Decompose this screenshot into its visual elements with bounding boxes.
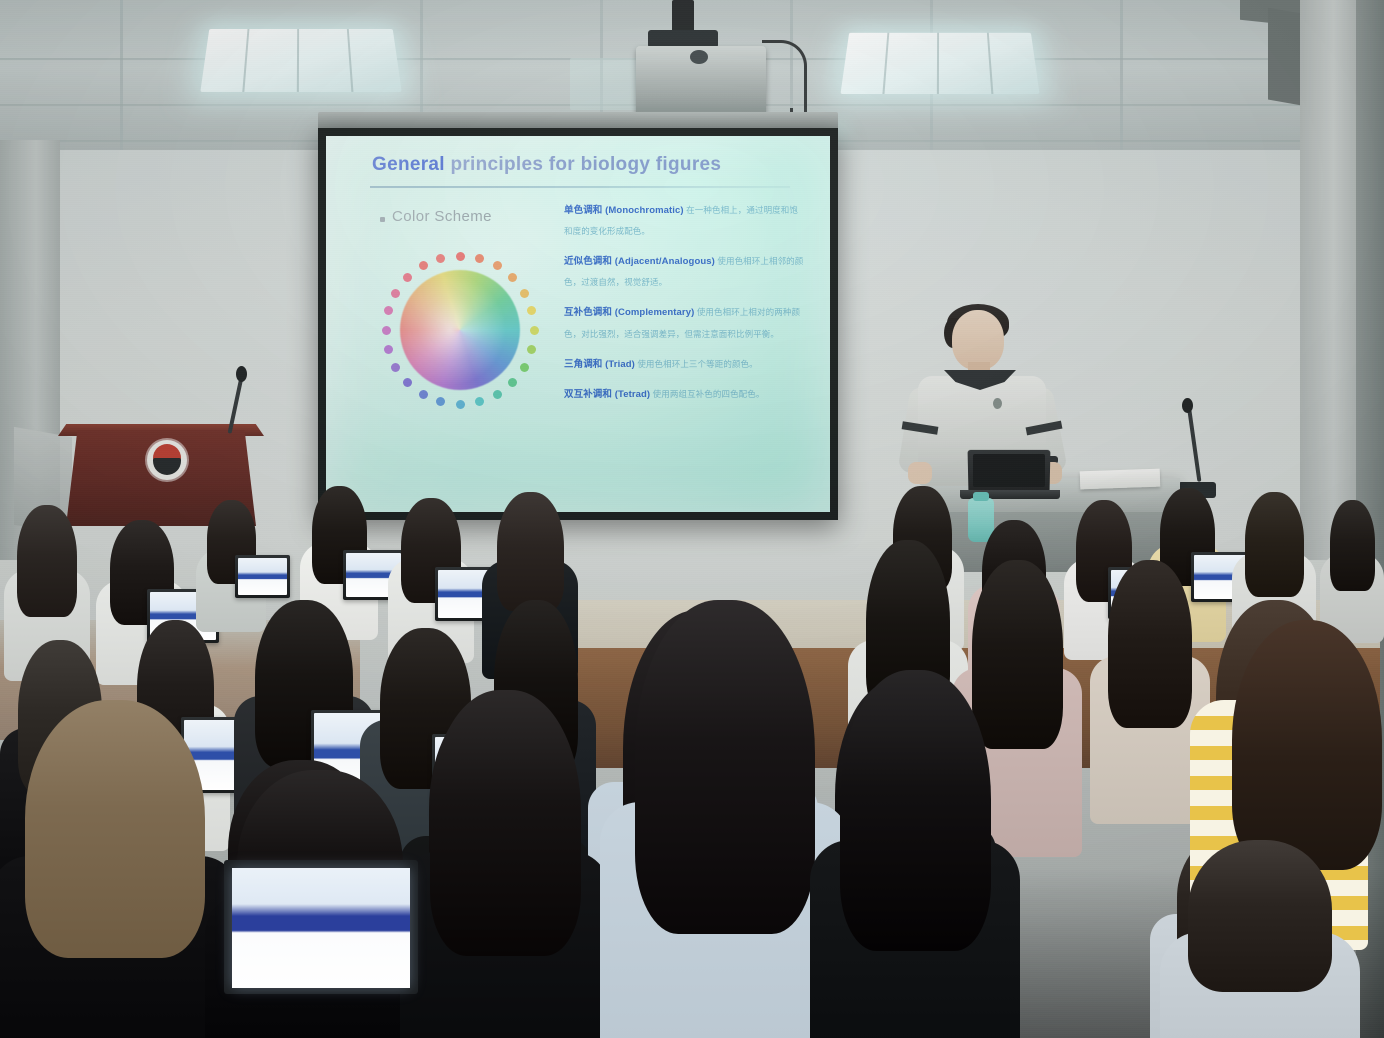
audience-member bbox=[388, 498, 474, 648]
foreground-student-right bbox=[1160, 840, 1360, 1038]
audience-member-hair bbox=[497, 492, 564, 611]
foreground-student-center-right bbox=[810, 670, 1020, 1038]
audience-member-hair bbox=[1108, 560, 1192, 728]
student-laptop-screen[interactable] bbox=[238, 558, 287, 595]
foreground-student-left bbox=[0, 700, 240, 1038]
audience bbox=[0, 0, 1384, 1038]
striped-sweater-wearer-hair bbox=[1232, 620, 1382, 870]
foreground-student-hair bbox=[430, 690, 581, 956]
foreground-student-hair bbox=[840, 670, 991, 951]
lecture-hall-photo: General principles for biology figures C… bbox=[0, 0, 1384, 1038]
foreground-student-center-left bbox=[400, 690, 610, 1038]
foreground-laptop-screen[interactable] bbox=[232, 868, 410, 988]
audience-member-hair bbox=[1245, 492, 1304, 597]
foreground-student-hair bbox=[1188, 840, 1332, 992]
student-laptop[interactable] bbox=[235, 555, 290, 598]
audience-member-hair bbox=[17, 505, 77, 617]
audience-member-hair bbox=[1330, 500, 1375, 591]
foreground-student-hair bbox=[635, 600, 815, 934]
foreground-student-hair bbox=[25, 700, 205, 958]
